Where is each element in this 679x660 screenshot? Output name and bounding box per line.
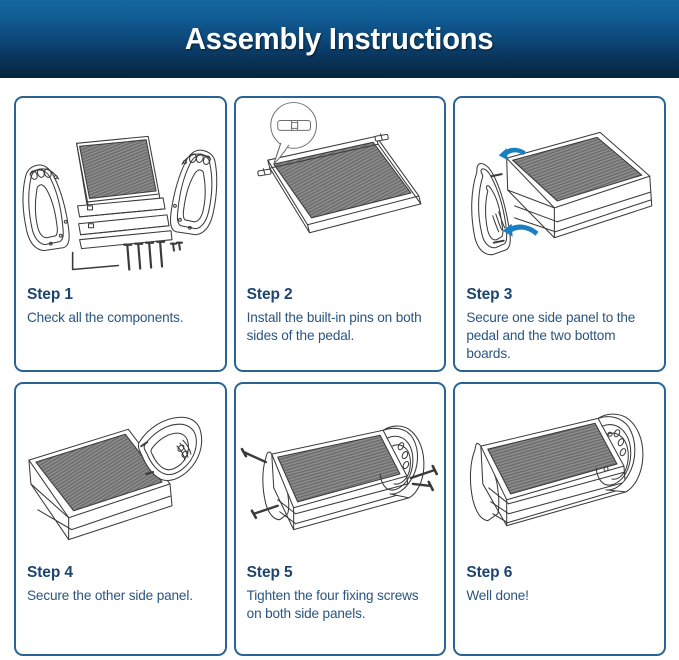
steps-grid: Step 1 Check all the components. [14, 96, 666, 656]
step-4-description: Secure the other side panel. [27, 587, 214, 605]
step-4-label: Step 4 [27, 564, 214, 582]
step-5-illustration [236, 384, 445, 562]
step-4-illustration [16, 384, 225, 562]
step-card-1: Step 1 Check all the components. [14, 96, 227, 372]
left-side-panel [23, 165, 69, 251]
pedal-assembly [507, 132, 652, 237]
pin-detail-graphic [277, 120, 310, 130]
step-card-5: Step 5 Tighten the four fixing screws on… [234, 382, 447, 656]
step-card-6: Step 6 Well done! [453, 382, 666, 656]
step-6-label: Step 6 [466, 564, 653, 582]
step-1-label: Step 1 [27, 286, 214, 304]
mesh-pedal-platform [77, 136, 160, 208]
right-side-panel [171, 150, 217, 235]
screw-2 [135, 244, 142, 269]
step-5-text-block: Step 5 Tighten the four fixing screws on… [236, 564, 445, 623]
page-header-banner: Assembly Instructions [0, 0, 679, 78]
step-3-text-block: Step 3 Secure one side panel to the peda… [455, 286, 664, 363]
step-6-illustration [455, 384, 664, 562]
step-3-description: Secure one side panel to the pedal and t… [466, 309, 653, 363]
step-3-label: Step 3 [466, 286, 653, 304]
step-6-description: Well done! [466, 587, 653, 605]
finished-assembly [471, 414, 643, 526]
step-5-label: Step 5 [247, 564, 434, 582]
assembly-instructions-page: Assembly Instructions [0, 0, 679, 660]
allen-key [73, 253, 119, 270]
step-1-text-block: Step 1 Check all the components. [16, 286, 225, 327]
screw-4 [157, 242, 164, 267]
screw-group [124, 242, 164, 270]
full-assembly [262, 426, 423, 530]
step-card-2: Step 2 Install the built-in pins on both… [234, 96, 447, 372]
built-in-pin-left [257, 169, 271, 176]
mesh-pedal-platform [267, 136, 420, 232]
small-pin-1 [171, 244, 176, 251]
step-card-4: Step 4 Secure the other side panel. [14, 382, 227, 656]
step-2-label: Step 2 [247, 286, 434, 304]
fixing-screw-top-left [242, 449, 266, 462]
small-pin-group [171, 243, 182, 251]
step-2-text-block: Step 2 Install the built-in pins on both… [236, 286, 445, 345]
page-title: Assembly Instructions [185, 21, 494, 57]
step-2-illustration [236, 98, 445, 284]
screw-1 [124, 245, 131, 270]
step-3-illustration [455, 98, 664, 284]
step-1-illustration [16, 98, 225, 284]
side-panel-detached [472, 164, 511, 255]
bottom-board-2 [79, 215, 169, 235]
step-4-text-block: Step 4 Secure the other side panel. [16, 564, 225, 605]
step-5-description: Tighten the four fixing screws on both s… [247, 587, 434, 623]
step-2-description: Install the built-in pins on both sides … [247, 309, 434, 345]
small-pin-2 [177, 243, 182, 250]
step-1-description: Check all the components. [27, 309, 214, 327]
built-in-pin-right [375, 134, 389, 141]
step-card-3: Step 3 Secure one side panel to the peda… [453, 96, 666, 372]
step-6-text-block: Step 6 Well done! [455, 564, 664, 605]
screw-3 [146, 243, 153, 268]
